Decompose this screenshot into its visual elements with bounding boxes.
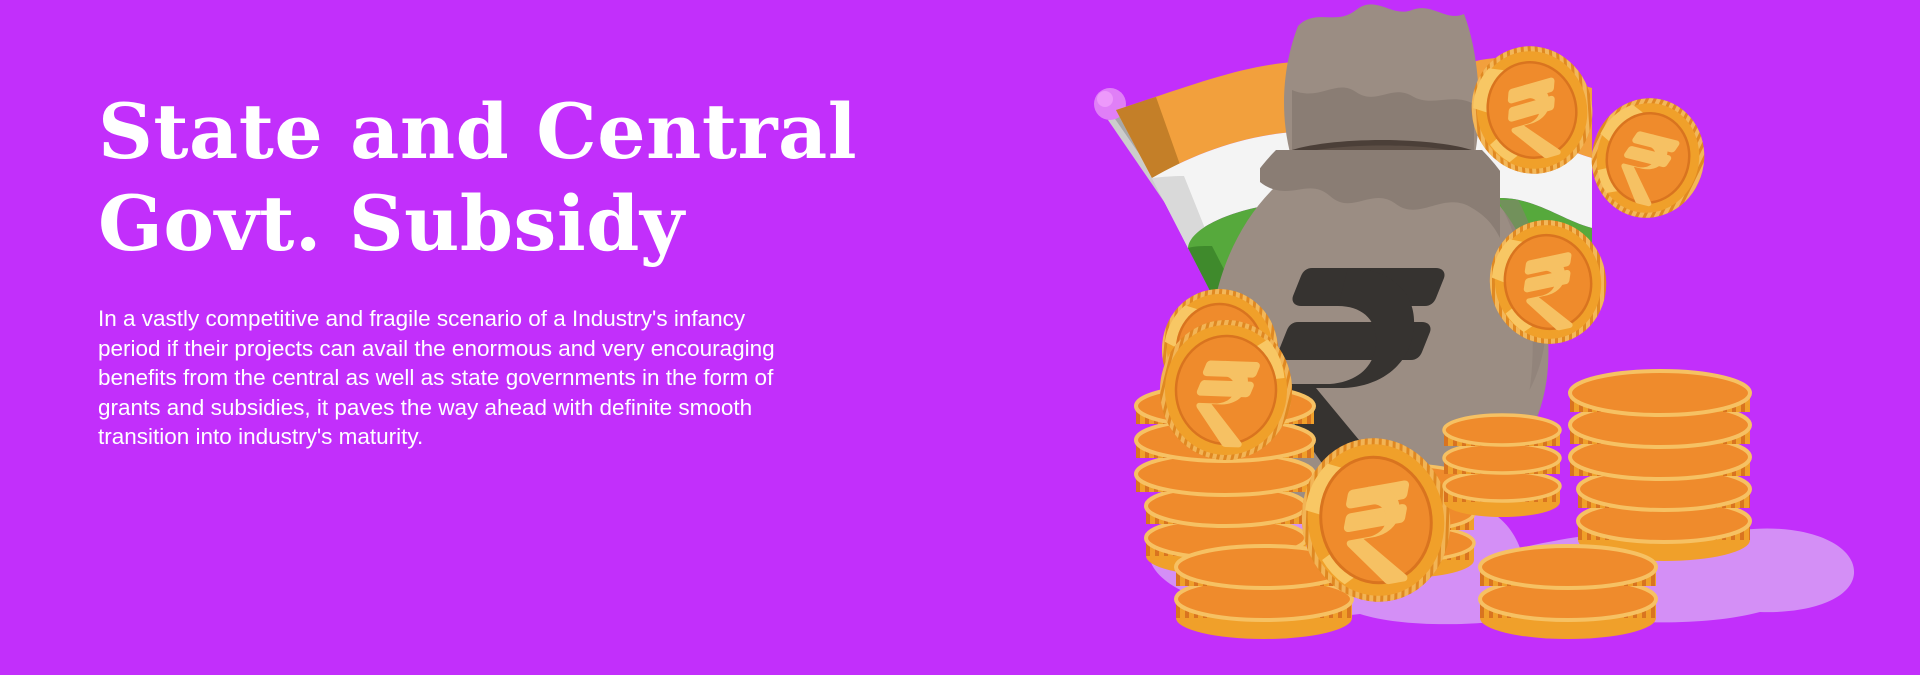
coin-stack-right-front [1480,546,1656,639]
coin-stack-behind-right [1444,415,1560,517]
money-bag-illustration [1080,0,1920,675]
subsidy-hero-banner: State and Central Govt. Subsidy In a vas… [0,0,1920,675]
coin-stack-right [1570,371,1750,561]
hero-text-column: State and Central Govt. Subsidy In a vas… [98,86,928,452]
rupee-coin [1579,86,1717,230]
headline-line-1: State and Central [98,86,928,178]
headline-line-2: Govt. Subsidy [98,178,928,270]
hero-body-text: In a vastly competitive and fragile scen… [98,270,778,452]
page-title: State and Central Govt. Subsidy [98,86,928,270]
